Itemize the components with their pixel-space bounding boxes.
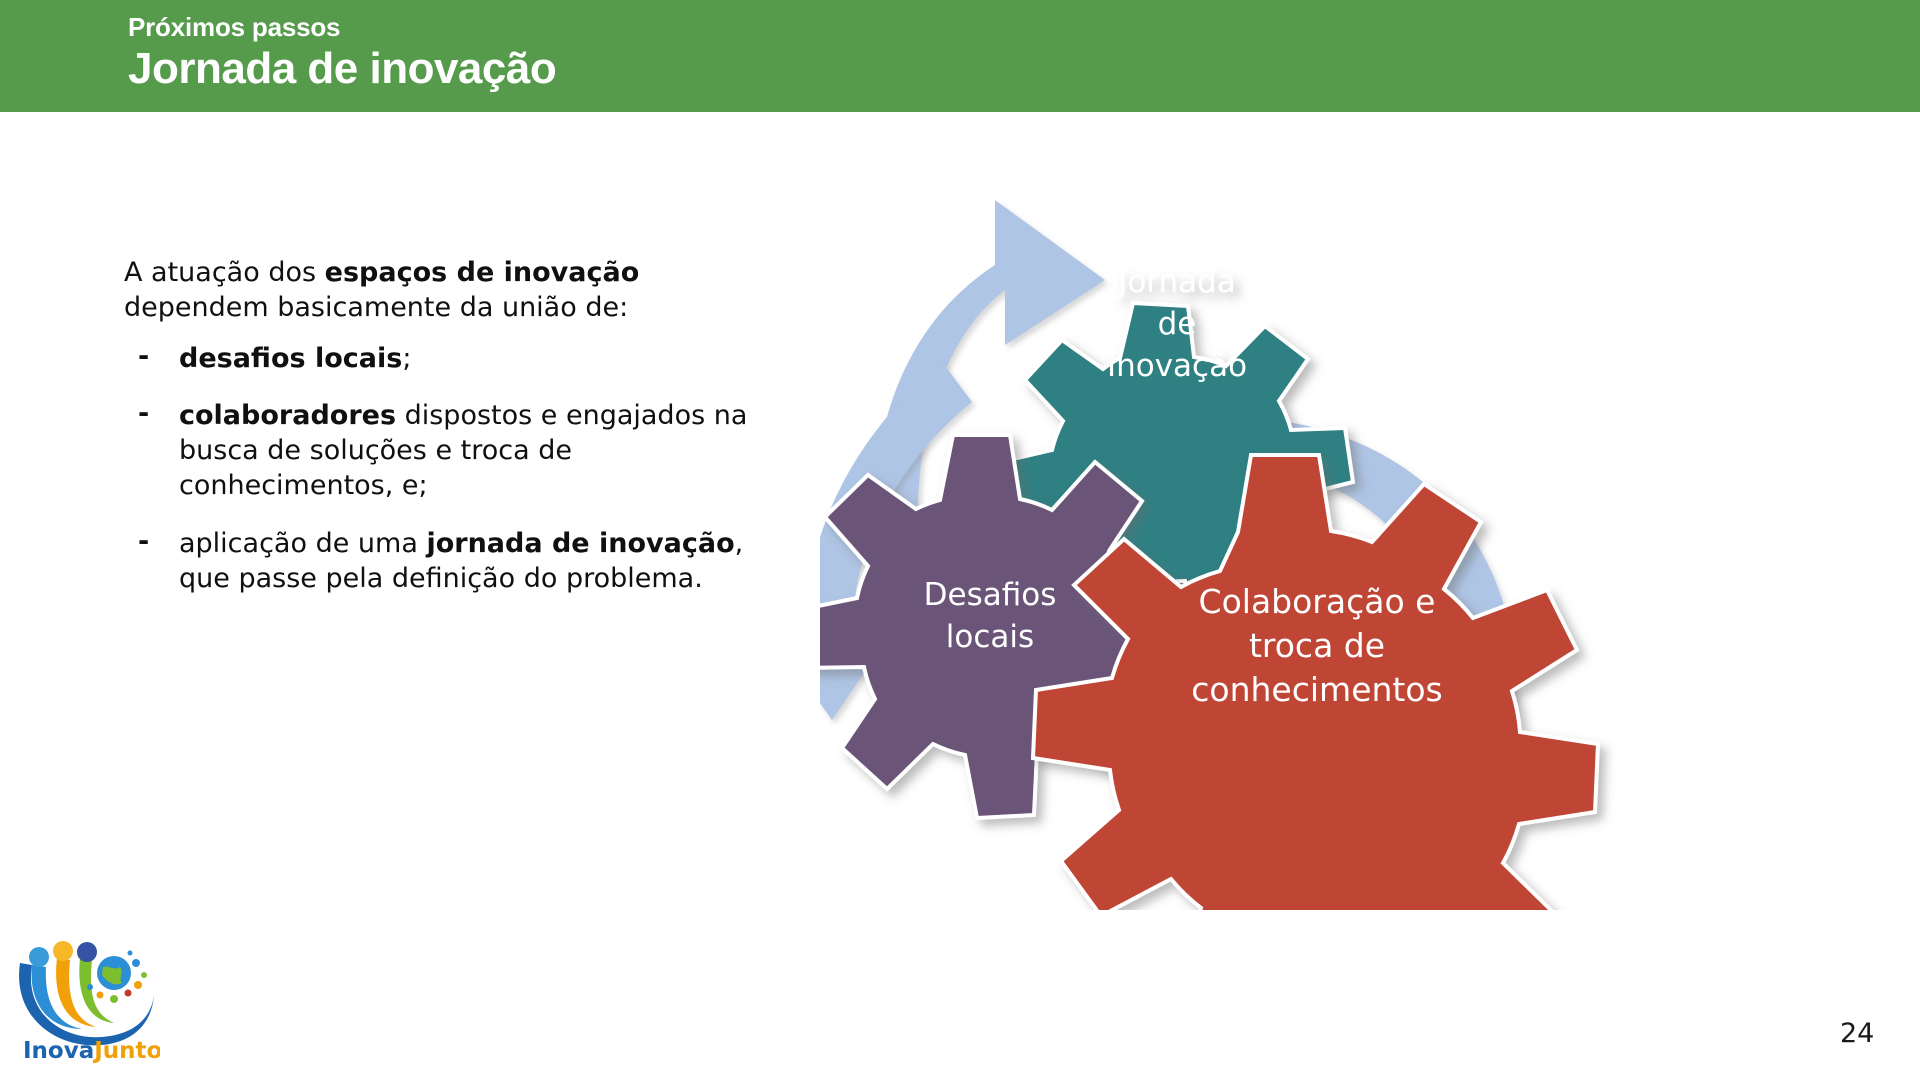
list-item: - aplicação de uma jornada de inovação, … bbox=[124, 526, 774, 596]
list-item: - colaboradores dispostos e engajados na… bbox=[124, 398, 774, 503]
bullet-dash-icon: - bbox=[138, 396, 149, 431]
lead-paragraph: A atuação dos espaços de inovação depend… bbox=[124, 255, 774, 325]
bullet-list: - desafios locais; - colaboradores dispo… bbox=[124, 341, 774, 596]
slide-root: Próximos passos Jornada de inovação A at… bbox=[0, 0, 1920, 1080]
header-eyebrow: Próximos passos bbox=[128, 12, 340, 43]
gear-colaboracao-line-3: conhecimentos bbox=[1191, 670, 1442, 709]
page-title: Jornada de inovação bbox=[128, 44, 556, 94]
gear-desafios-line-1: Desafios bbox=[924, 577, 1057, 613]
logo-inovajuntos: InovaJuntos bbox=[10, 925, 160, 1065]
lead-text-1: A atuação dos bbox=[124, 257, 325, 288]
logo-head-navy bbox=[77, 942, 97, 962]
page-number: 24 bbox=[1840, 1018, 1874, 1049]
gear-jornada-line-3: Inovação bbox=[1107, 348, 1247, 384]
logo-wordmark-juntos: Juntos bbox=[92, 1038, 160, 1064]
bullet-3-bold: jornada de inovação bbox=[426, 528, 734, 559]
gear-jornada-line-1: Jornada bbox=[1116, 264, 1236, 300]
lead-bold: espaços de inovação bbox=[325, 257, 640, 288]
bullet-2-bold: colaboradores bbox=[179, 400, 396, 431]
bullet-1-rest: ; bbox=[402, 343, 411, 374]
bullet-3-pre: aplicação de uma bbox=[179, 528, 426, 559]
gear-desafios-line-2: locais bbox=[946, 619, 1034, 655]
bullet-dash-icon: - bbox=[138, 339, 149, 374]
gear-cycle-diagram: Jornada de Inovação Desafios locais Cola… bbox=[820, 130, 1900, 910]
body-text-column: A atuação dos espaços de inovação depend… bbox=[124, 255, 774, 618]
gear-colaboracao-line-1: Colaboração e bbox=[1199, 582, 1436, 621]
logo-head-orange bbox=[53, 941, 73, 961]
lead-text-2: dependem basicamente da união de: bbox=[124, 292, 628, 323]
header-band: Próximos passos Jornada de inovação bbox=[0, 0, 1920, 112]
gear-colaboracao-line-2: troca de bbox=[1249, 626, 1385, 665]
bullet-dash-icon: - bbox=[138, 524, 149, 559]
logo-head-blue bbox=[29, 947, 49, 967]
logo-wordmark-inova: InovaJuntos bbox=[23, 1038, 160, 1064]
bullet-1-bold: desafios locais bbox=[179, 343, 402, 374]
list-item: - desafios locais; bbox=[124, 341, 774, 376]
gear-jornada-line-2: de bbox=[1158, 306, 1197, 342]
